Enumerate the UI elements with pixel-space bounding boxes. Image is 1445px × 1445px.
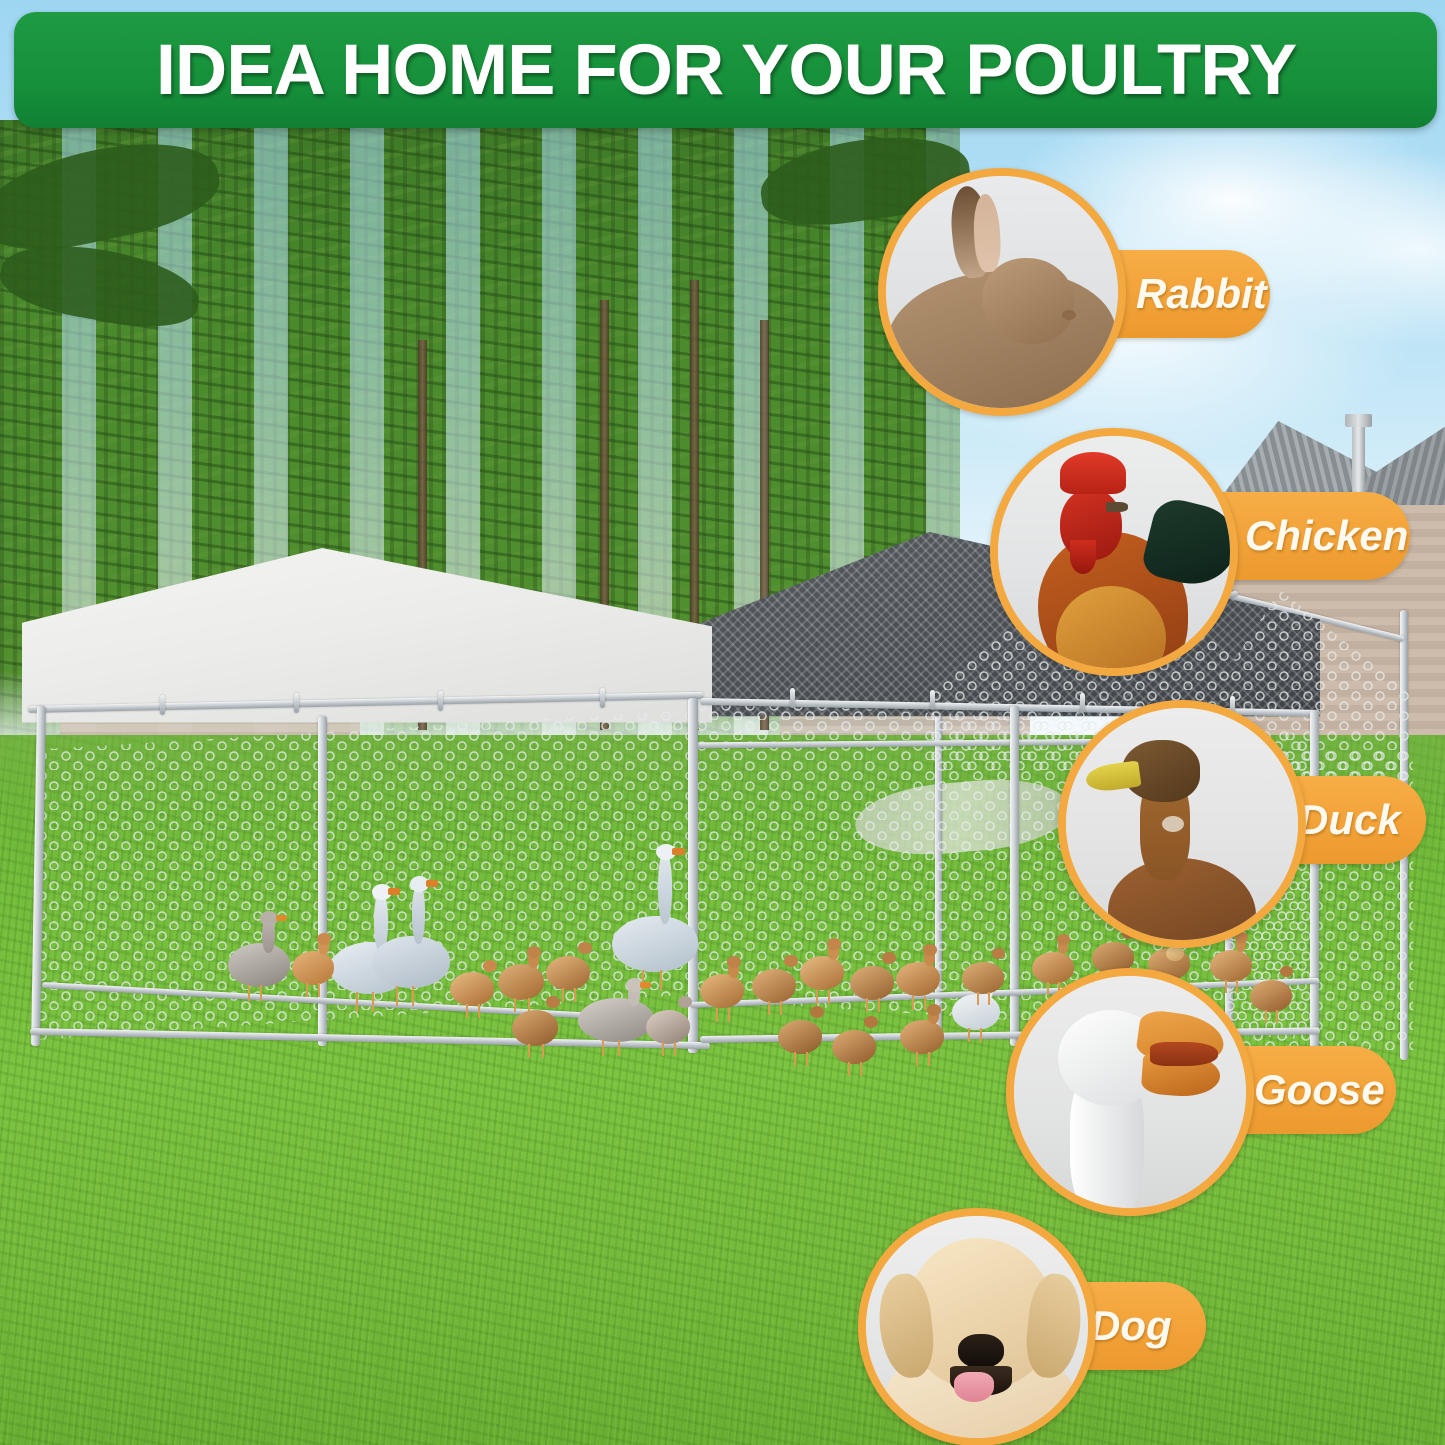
badge-photo-dog — [858, 1208, 1096, 1445]
duck-neck-ring — [1162, 816, 1184, 832]
rooster-eye — [998, 436, 1009, 447]
rooster-wattle — [1070, 540, 1096, 574]
rooster-photo — [998, 436, 1230, 668]
badge-label-chicken: Chicken — [1245, 512, 1408, 560]
duck-photo — [1066, 708, 1298, 940]
canopy-hook — [790, 688, 795, 708]
dog-tongue — [954, 1372, 994, 1402]
headline-text: IDEA HOME FOR YOUR POULTRY — [155, 30, 1295, 111]
badge-photo-goose — [1006, 968, 1254, 1216]
dog-nose — [958, 1334, 1004, 1368]
canopy-hook — [294, 693, 299, 713]
canopy-hook — [600, 688, 605, 708]
canopy-hook — [438, 691, 443, 711]
badge-photo-duck — [1058, 700, 1306, 948]
goose-photo — [1014, 976, 1246, 1208]
canopy-hook — [930, 690, 935, 710]
rooster-comb — [1060, 452, 1126, 494]
goose-eye — [1014, 976, 1038, 1000]
headline-banner: IDEA HOME FOR YOUR POULTRY — [14, 12, 1437, 128]
rabbit-nose — [1062, 310, 1076, 320]
badge-label-duck: Duck — [1298, 796, 1401, 844]
badge-label-goose: Goose — [1254, 1066, 1385, 1114]
badge-label-dog: Dog — [1090, 1302, 1172, 1350]
rabbit-photo — [886, 176, 1118, 408]
rabbit-eye — [886, 176, 912, 202]
coop-post — [1310, 710, 1319, 1050]
badge-photo-chicken — [990, 428, 1238, 676]
badge-label-rabbit: Rabbit — [1136, 270, 1267, 318]
dog-eye-left — [866, 1216, 888, 1238]
dog-photo — [866, 1216, 1088, 1438]
dog-eye-right — [866, 1238, 888, 1260]
coop-post-corner-left — [31, 706, 46, 1046]
rooster-beak — [1106, 502, 1128, 512]
canopy-hook — [160, 695, 165, 715]
duck-eye — [1066, 708, 1078, 720]
product-marketing-image: IDEA HOME FOR YOUR POULTRY Rabbit Chicke… — [0, 0, 1445, 1445]
badge-photo-rabbit — [878, 168, 1126, 416]
chimney-cap — [1345, 414, 1372, 427]
goose-mouth — [1150, 1042, 1218, 1066]
